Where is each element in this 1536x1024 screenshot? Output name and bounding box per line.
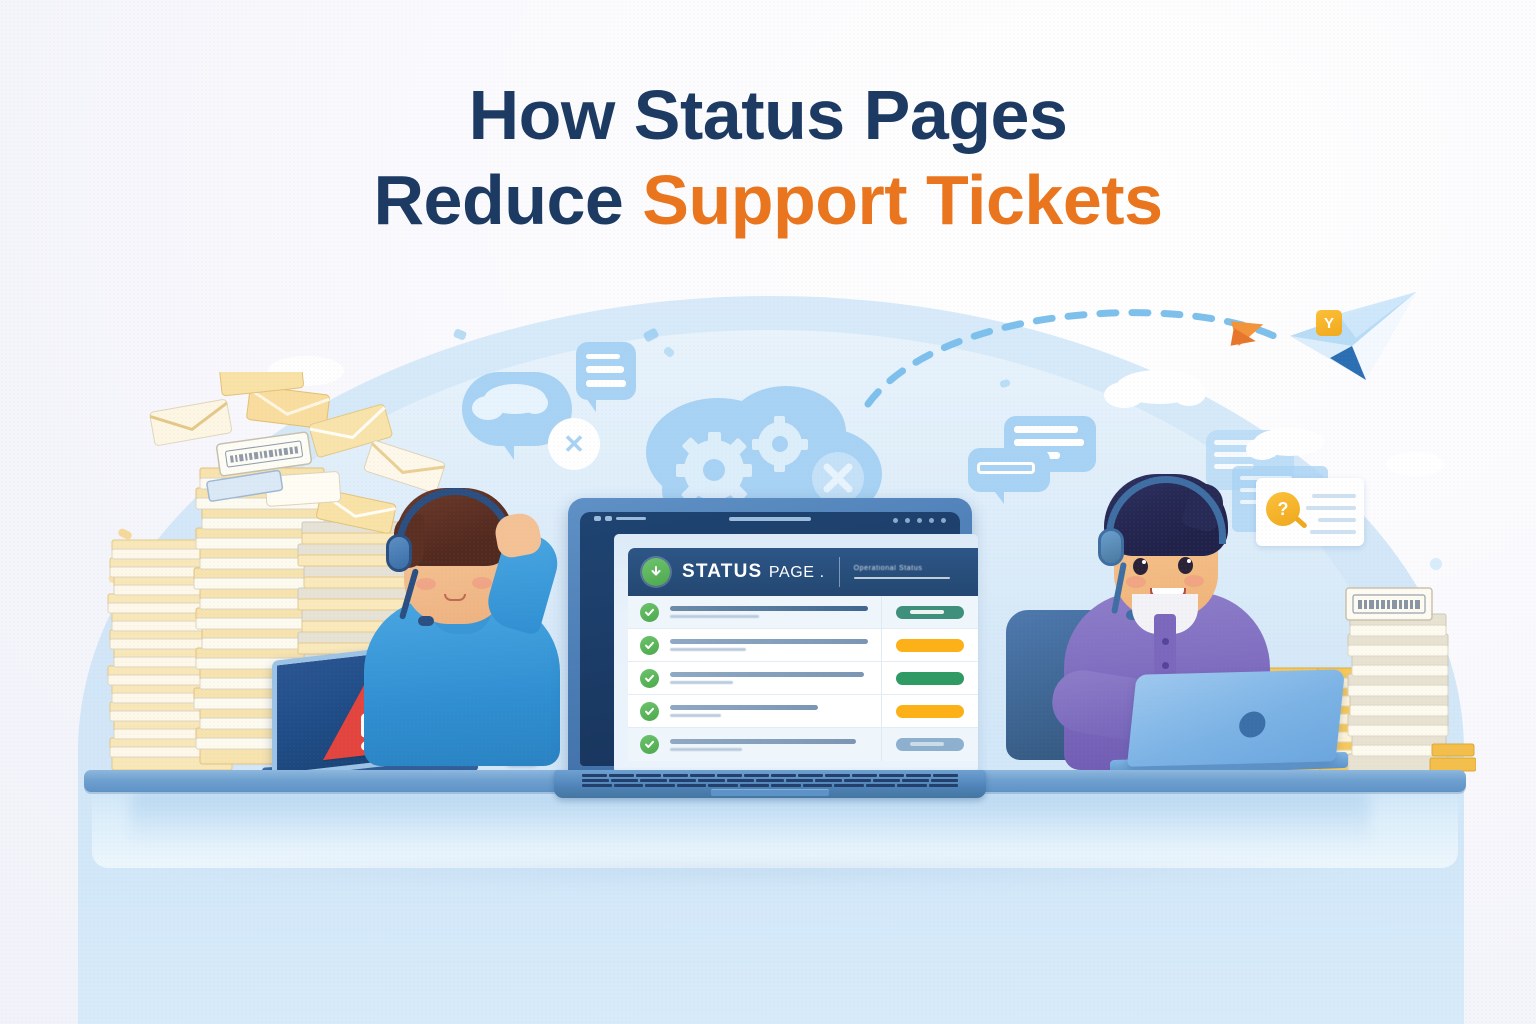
row-text-placeholder xyxy=(670,672,881,684)
status-badge xyxy=(896,705,964,718)
status-page-laptop: STATUS PAGE . Operational Status xyxy=(554,498,986,798)
confetti xyxy=(453,328,467,341)
keyboard-keys xyxy=(582,774,958,787)
chat-bubble-tail xyxy=(992,488,1004,504)
status-badge xyxy=(896,672,964,685)
bezel-dots xyxy=(893,518,946,523)
status-meta-text: Operational Status xyxy=(854,565,950,572)
laptop-logo-icon xyxy=(1238,711,1267,738)
title-line-2-dark: Reduce xyxy=(373,161,642,239)
status-badge-cell xyxy=(882,639,978,652)
list-bubble-tail xyxy=(586,398,596,412)
laptop-lid xyxy=(1127,669,1345,766)
brand-thin: PAGE . xyxy=(769,564,825,581)
shirt-button xyxy=(1162,662,1169,669)
status-badge-cell xyxy=(882,705,978,718)
check-circle-icon xyxy=(640,603,659,622)
check-circle-icon xyxy=(640,702,659,721)
table-row[interactable] xyxy=(628,695,978,728)
close-x-icon: ✕ xyxy=(548,418,600,470)
status-badge-cell xyxy=(882,606,978,619)
check-circle-icon xyxy=(640,735,659,754)
brand-bold: STATUS xyxy=(682,561,762,582)
desk-reflection xyxy=(130,792,1370,846)
title-line-2: Reduce Support Tickets xyxy=(0,165,1536,236)
chat-bubble-tail xyxy=(500,440,514,460)
row-text-placeholder xyxy=(670,705,881,717)
desk-shadow xyxy=(150,856,1360,886)
table-row[interactable] xyxy=(628,596,978,629)
laptop-trackpad xyxy=(711,789,829,796)
headset-earcup-icon xyxy=(386,534,412,572)
flight-path-arc xyxy=(862,300,1282,410)
laptop-bezel: STATUS PAGE . Operational Status xyxy=(580,512,960,766)
check-circle-icon xyxy=(640,636,659,655)
status-page-brand: STATUS PAGE . xyxy=(682,561,825,583)
status-page-meta: Operational Status xyxy=(854,565,950,579)
status-badge-cell xyxy=(882,738,978,751)
webcam-bar xyxy=(729,517,811,521)
headset-earcup-icon xyxy=(1098,528,1124,566)
table-row[interactable] xyxy=(628,662,978,695)
row-text-placeholder xyxy=(670,739,881,751)
headset-mic-tip xyxy=(418,616,434,626)
confetti xyxy=(1430,558,1442,570)
chat-bubble-icon xyxy=(968,448,1050,492)
row-text-placeholder xyxy=(670,606,881,618)
magnifier-handle-icon xyxy=(1294,516,1308,529)
header-divider xyxy=(839,557,840,587)
status-badge-cell xyxy=(882,672,978,685)
right-agent-laptop xyxy=(1124,672,1340,770)
plane-badge-char: Y xyxy=(1324,315,1334,332)
cloud-icon xyxy=(1386,452,1444,476)
shirt-button xyxy=(1162,638,1169,645)
cloud-icon xyxy=(472,396,504,420)
cloud-icon xyxy=(522,392,548,414)
status-page-header: STATUS PAGE . Operational Status xyxy=(628,548,978,596)
check-circle-icon xyxy=(640,669,659,688)
title-line-2-orange: Support Tickets xyxy=(642,161,1162,239)
row-text-placeholder xyxy=(670,639,881,651)
illustration-canvas: ✕ Y xyxy=(0,0,1536,1024)
table-row[interactable] xyxy=(628,629,978,662)
status-meta-rule xyxy=(854,577,950,579)
plane-badge-icon: Y xyxy=(1316,310,1342,336)
download-circle-icon xyxy=(642,558,670,586)
status-badge xyxy=(896,606,964,619)
status-page-rows xyxy=(628,596,978,774)
title-line-1: How Status Pages xyxy=(0,80,1536,151)
status-badge xyxy=(896,738,964,751)
bezel-marks xyxy=(594,516,646,521)
page-title: How Status Pages Reduce Support Tickets xyxy=(0,80,1536,237)
cloud-icon xyxy=(1246,438,1278,460)
arrow-head-icon xyxy=(1231,328,1258,350)
status-page-screen: STATUS PAGE . Operational Status xyxy=(614,534,978,774)
status-badge xyxy=(896,639,964,652)
stressed-support-agent xyxy=(352,470,572,780)
paper-plane-icon: Y xyxy=(1286,288,1426,384)
table-row[interactable] xyxy=(628,728,978,761)
laptop-keyboard xyxy=(554,770,986,798)
